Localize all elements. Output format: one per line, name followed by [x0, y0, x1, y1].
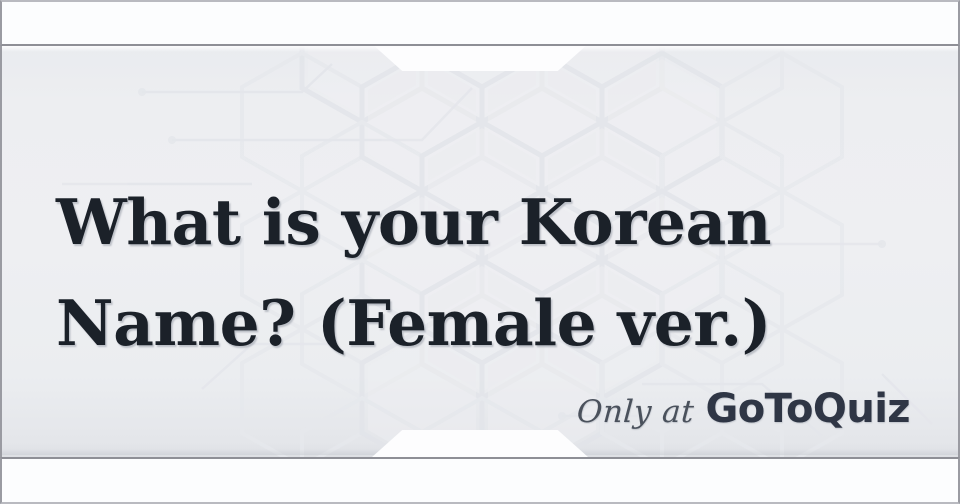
page-header-strip [0, 0, 960, 46]
top-notch-shape [372, 44, 588, 71]
quiz-title-line-2: Name? (Female ver.) [56, 273, 896, 374]
branding-prefix-label: Only at [576, 394, 696, 430]
quiz-title-line-1: What is your Korean [56, 172, 896, 273]
page-footer-strip [0, 457, 960, 504]
quiz-banner: 01000110100011110100 What is your Korean… [0, 44, 960, 459]
bottom-notch-shape [372, 430, 588, 457]
gotoquiz-branding: Only at GoToQuiz [577, 386, 910, 432]
quiz-title: What is your Korean Name? (Female ver.) [56, 172, 896, 374]
quiz-banner-screenshot: 01000110100011110100 What is your Korean… [0, 0, 960, 504]
gotoquiz-logo-text: GoToQuiz [706, 386, 910, 432]
